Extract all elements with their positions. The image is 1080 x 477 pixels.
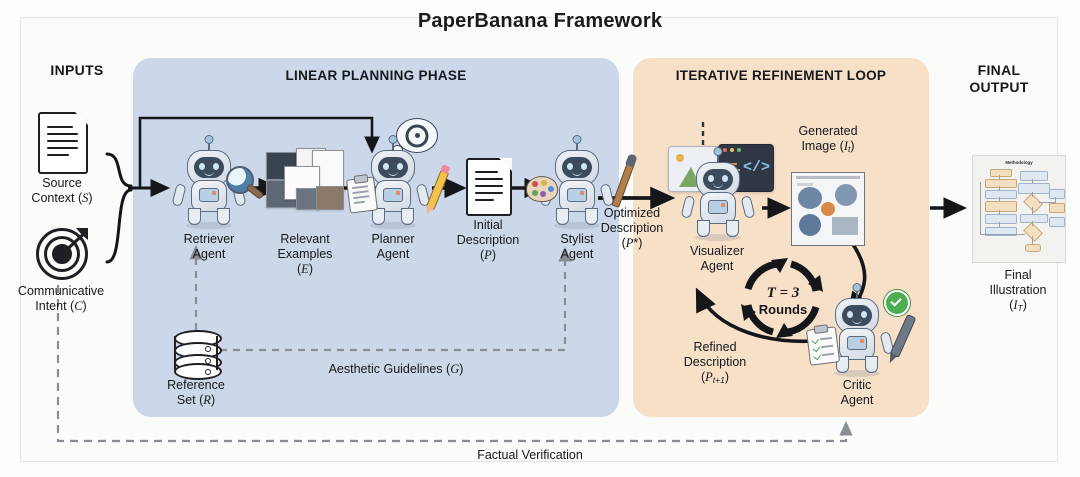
rounds-line2: Rounds xyxy=(759,302,807,317)
retriever-agent-icon xyxy=(172,140,246,232)
refined-description-label: Refined Description (Pt+1) xyxy=(660,340,770,385)
framework-figure: PaperBanana Framework LINEAR PLANNING PH… xyxy=(0,0,1080,477)
final-illustration-line3: (IT) xyxy=(1009,298,1027,312)
reference-set-line1: Reference xyxy=(167,378,225,392)
palette-icon xyxy=(526,176,558,202)
reference-set-label: Reference Set (R) xyxy=(150,378,242,408)
initial-description-label: Initial Description (P) xyxy=(440,218,536,263)
generated-image-label: Generated Image (It) xyxy=(778,124,878,154)
final-output-title: FINAL OUTPUT xyxy=(940,62,1058,95)
factual-verification-label: Factual Verification xyxy=(380,448,680,463)
rounds-label: T = 3 Rounds xyxy=(748,284,818,318)
relevant-examples-icon xyxy=(266,148,344,220)
retriever-agent-label: Retriever Agent xyxy=(162,232,256,262)
final-illustration-thumbnail-title: Methodology xyxy=(973,160,1065,165)
rounds-line1: T = 3 xyxy=(767,285,800,301)
check-badge-icon xyxy=(884,290,910,316)
planner-agent-label: Planner Agent xyxy=(346,232,440,262)
visualizer-agent-icon xyxy=(681,152,755,244)
refined-description-line2: Description xyxy=(684,355,747,369)
refined-description-line1: Refined xyxy=(693,340,736,354)
initial-description-line2: Description xyxy=(457,233,520,247)
inputs-title: INPUTS xyxy=(21,62,133,79)
optimized-description-line2: Description xyxy=(601,221,664,235)
initial-description-line1: Initial xyxy=(473,218,502,232)
optimized-description-line1: Optimized xyxy=(604,206,660,220)
iterative-refinement-loop-title: ITERATIVE REFINEMENT LOOP xyxy=(633,68,929,83)
initial-description-document-icon xyxy=(466,158,512,216)
reference-set-line2: Set (R) xyxy=(177,393,215,407)
linear-planning-phase-title: LINEAR PLANNING PHASE xyxy=(133,68,619,83)
page-title: PaperBanana Framework xyxy=(0,10,1080,33)
refined-description-line3: (Pt+1) xyxy=(701,370,729,384)
source-context-line2: Context (S) xyxy=(31,191,92,205)
generated-image-thumbnail xyxy=(791,172,865,246)
final-illustration-thumbnail: Methodology xyxy=(972,155,1066,263)
critic-agent-line1: Critic xyxy=(843,378,871,392)
relevant-examples-line3: (E) xyxy=(297,262,313,276)
final-output-line1: FINAL xyxy=(978,62,1021,78)
initial-description-line3: (P) xyxy=(480,248,496,262)
final-illustration-line1: Final xyxy=(1004,268,1031,282)
relevant-examples-line1: Relevant xyxy=(280,232,329,246)
communicative-intent-line1: Communicative xyxy=(18,284,104,298)
final-output-line2: OUTPUT xyxy=(969,79,1028,95)
retriever-agent-line2: Agent xyxy=(193,247,226,261)
critic-agent-label: Critic Agent xyxy=(810,378,904,408)
visualizer-agent-line1: Visualizer xyxy=(690,244,744,258)
planner-agent-line2: Agent xyxy=(377,247,410,261)
reference-set-database-icon xyxy=(174,330,218,378)
planner-agent-line1: Planner xyxy=(371,232,414,246)
visualizer-agent-label: Visualizer Agent xyxy=(670,244,764,274)
relevant-examples-line2: Examples xyxy=(278,247,333,261)
clipboard-icon xyxy=(346,176,378,213)
final-illustration-label: Final Illustration (IT) xyxy=(962,268,1074,313)
aesthetic-guidelines-label: Aesthetic Guidelines (G) xyxy=(276,362,516,377)
source-context-label: Source Context (S) xyxy=(8,176,116,206)
visualizer-agent-line2: Agent xyxy=(701,259,734,273)
critic-agent-icon xyxy=(820,288,894,380)
communicative-intent-label: Communicative Intent (C) xyxy=(2,284,120,314)
optimized-description-line3: (P*) xyxy=(622,236,643,250)
generated-image-line2: Image (It) xyxy=(801,139,854,153)
communicative-intent-line2: Intent (C) xyxy=(35,299,86,313)
planner-agent-icon xyxy=(356,140,430,232)
source-context-line1: Source xyxy=(42,176,82,190)
optimized-description-label: Optimized Description (P*) xyxy=(586,206,678,251)
relevant-examples-label: Relevant Examples (E) xyxy=(256,232,354,277)
communicative-intent-target-icon xyxy=(36,228,88,280)
generated-image-line1: Generated xyxy=(798,124,857,138)
critic-agent-line2: Agent xyxy=(841,393,874,407)
checklist-clipboard-icon xyxy=(806,326,840,365)
retriever-agent-line1: Retriever xyxy=(184,232,235,246)
source-context-document-icon xyxy=(38,112,88,174)
final-illustration-line2: Illustration xyxy=(990,283,1047,297)
